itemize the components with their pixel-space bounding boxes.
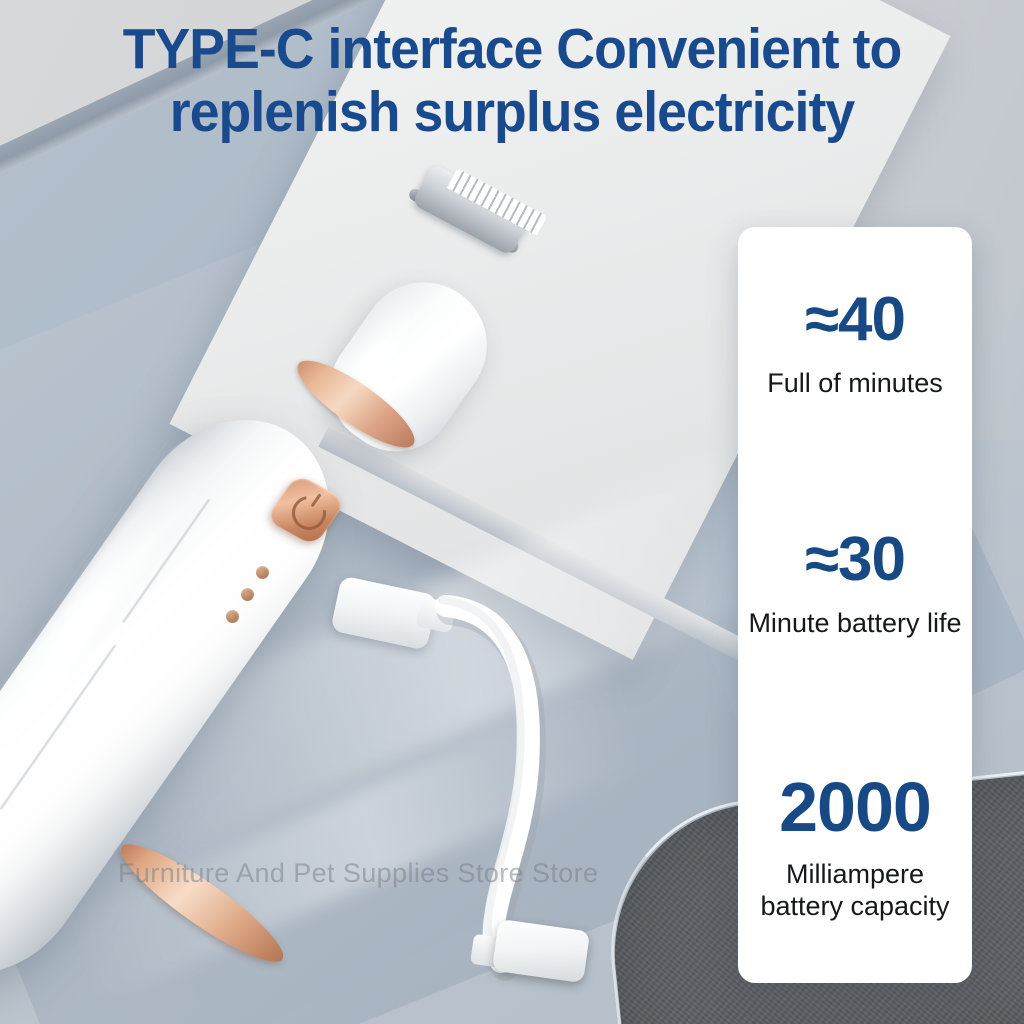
led-indicator-icon — [256, 566, 269, 579]
headline-line-1: TYPE-C interface Convenient to — [31, 18, 994, 81]
product-banner: TYPE-C interface Convenient to replenish… — [0, 0, 1024, 1024]
headline-line-2: replenish surplus electricity — [31, 81, 994, 144]
spec-value: 2000 — [779, 770, 931, 844]
spec-card-charge-time: ≈40 Full of minutes — [738, 227, 972, 458]
led-indicator-icon — [241, 588, 254, 601]
headline: TYPE-C interface Convenient to replenish… — [31, 18, 994, 144]
spec-card-battery-life: ≈30 Minute battery life — [738, 458, 972, 708]
spec-label: Minute battery life — [748, 607, 961, 639]
spec-label: Full of minutes — [767, 367, 943, 399]
led-indicator-icon — [226, 610, 239, 623]
spec-panel: ≈40 Full of minutes ≈30 Minute battery l… — [738, 227, 972, 983]
spec-label: Milliampere battery capacity — [748, 858, 962, 922]
store-watermark: Furniture And Pet Supplies Store Store — [118, 858, 598, 889]
spec-value: ≈40 — [805, 287, 905, 353]
product-trimmer — [60, 170, 580, 960]
spec-value: ≈30 — [805, 527, 905, 593]
rose-gold-ring-bottom — [110, 830, 295, 977]
spec-card-battery-capacity: 2000 Milliampere battery capacity — [738, 708, 972, 983]
